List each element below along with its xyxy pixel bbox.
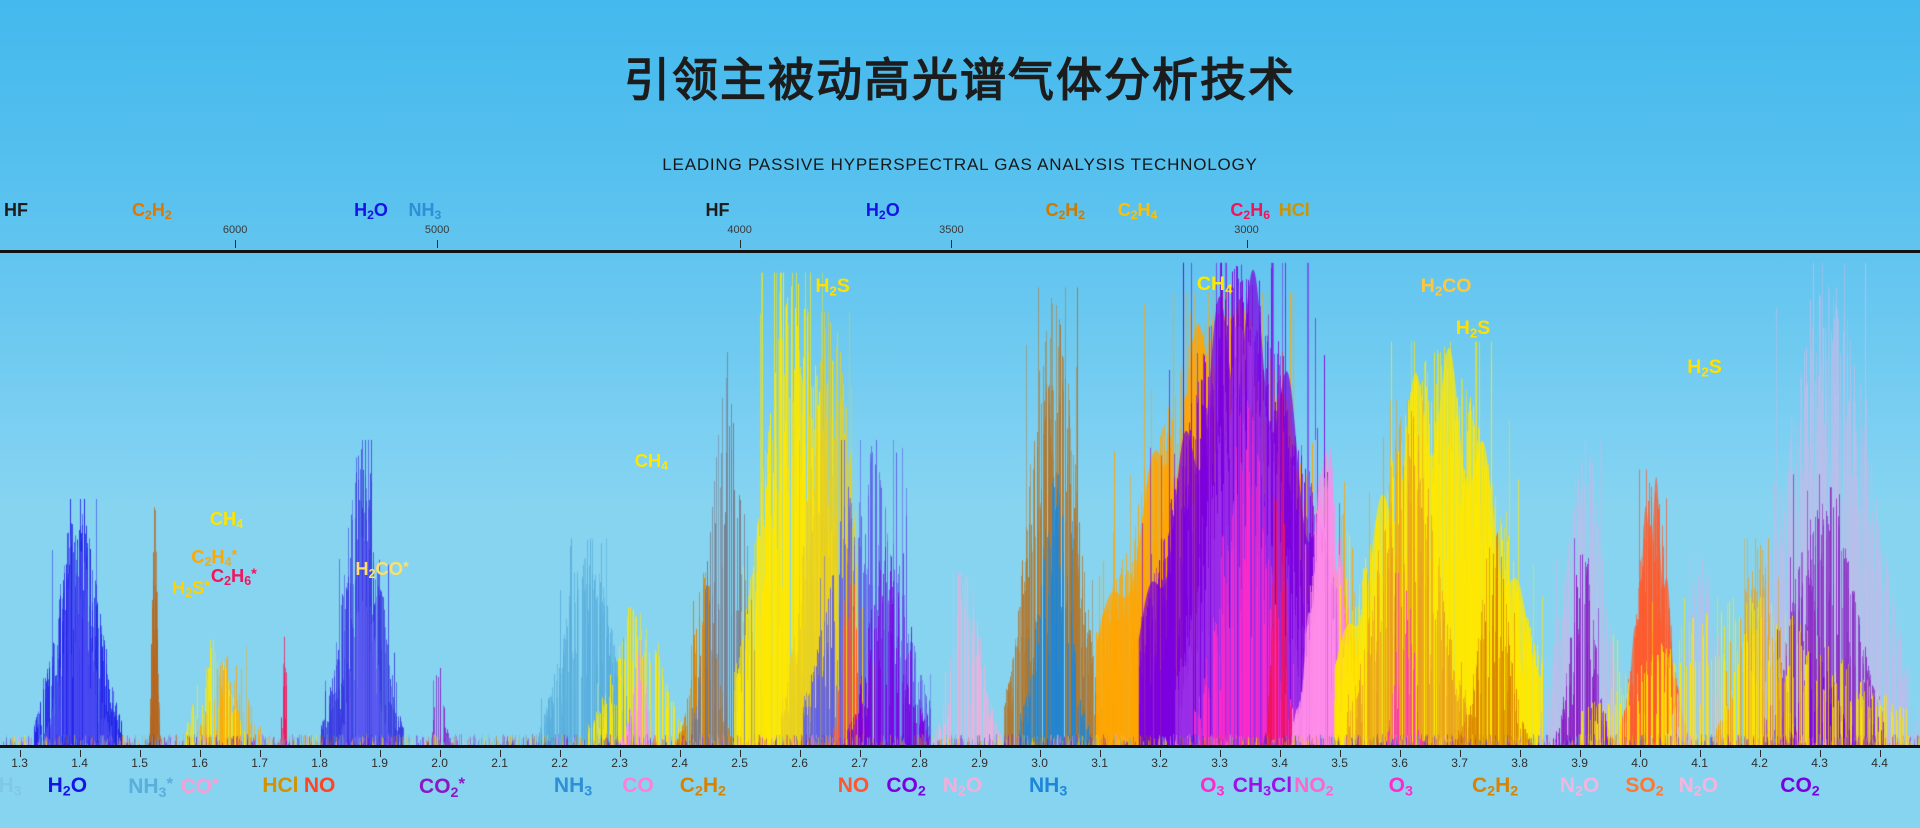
bottom-tick-label-4.4: 4.4 [1871,756,1888,770]
bottom-tick-label-3.8: 3.8 [1511,756,1528,770]
top-species-C2H2_2: C2H2 [1045,200,1085,222]
bottom-tick-label-1.6: 1.6 [191,756,208,770]
page-title: 引领主被动高光谱气体分析技术 [0,57,1920,103]
bottom-tick-label-2.7: 2.7 [851,756,868,770]
bottom-tick-label-3.9: 3.9 [1571,756,1588,770]
bottom-tick-label-2.2: 2.2 [551,756,568,770]
bottom-species-NH3: NH3 [554,774,592,800]
bottom-species-O3_2: O3 [1389,774,1413,800]
bottom-species-CO: CO [622,774,654,798]
bottom-tick-label-3.3: 3.3 [1211,756,1228,770]
bottom-species-NH3_star: NH3* [128,774,173,801]
bottom-tick-label-2.3: 2.3 [611,756,628,770]
top-species-H2O_2: H2O [866,200,900,222]
bottom-species-N2O_2: N2O [1560,774,1599,800]
bottom-tick-label-2.6: 2.6 [791,756,808,770]
top-species-H2O: H2O [354,200,388,222]
top-tick-label-6000: 6000 [223,224,247,236]
bottom-tick-label-1.5: 1.5 [131,756,148,770]
top-tick-label-3500: 3500 [939,224,963,236]
top-tick-5000 [437,240,438,248]
bottom-axis-line [0,745,1920,748]
bottom-tick-label-2.4: 2.4 [671,756,688,770]
top-tick-4000 [740,240,741,248]
top-species-C2H4: C2H4 [1118,200,1158,222]
header: 引领主被动高光谱气体分析技术 LEADING PASSIVE HYPERSPEC… [0,0,1920,200]
top-tick-label-4000: 4000 [727,224,751,236]
bottom-tick-label-3.1: 3.1 [1091,756,1108,770]
top-species-HF_2: HF [706,200,730,221]
bottom-species-C2H2: C2H2 [680,774,726,800]
bottom-species-O3: O3 [1200,774,1224,800]
bottom-species-NH3_2: NH3 [1029,774,1067,800]
bottom-tick-label-4.0: 4.0 [1631,756,1648,770]
bottom-tick-label-3.6: 3.6 [1391,756,1408,770]
bottom-tick-label-2.8: 2.8 [911,756,928,770]
bottom-species-SO2: SO2 [1625,774,1663,800]
bottom-species-N2O: N2O [943,774,982,800]
bottom-species-NH3_edge: NH3 [0,774,22,800]
bottom-tick-label-3.2: 3.2 [1151,756,1168,770]
page-subtitle: LEADING PASSIVE HYPERSPECTRAL GAS ANALYS… [0,155,1920,175]
bottom-tick-label-2.0: 2.0 [431,756,448,770]
bottom-tick-label-1.3: 1.3 [11,756,28,770]
bottom-species-CO2_2: CO2 [1780,774,1819,800]
bottom-tick-label-1.9: 1.9 [371,756,388,770]
top-tick-label-3000: 3000 [1234,224,1258,236]
bottom-tick-label-3.5: 3.5 [1331,756,1348,770]
bottom-tick-label-3.4: 3.4 [1271,756,1288,770]
top-species-HF: HF [4,200,28,221]
top-tick-6000 [235,240,236,248]
hyperspectral-poster: 引领主被动高光谱气体分析技术 LEADING PASSIVE HYPERSPEC… [0,0,1920,828]
bottom-species-CH3Cl: CH3Cl [1233,774,1292,800]
top-species-HCl: HCl [1279,200,1310,221]
bottom-tick-label-3.0: 3.0 [1031,756,1048,770]
bottom-species-labels: NH3H2ONH3*CO*HClNOCO2*NH3COC2H2NOCO2N2ON… [0,774,1920,812]
top-species-NH3: NH3 [408,200,441,222]
bottom-tick-label-2.1: 2.1 [491,756,508,770]
bottom-tick-label-1.4: 1.4 [71,756,88,770]
bottom-species-C2H2_2: C2H2 [1472,774,1518,800]
bottom-species-NO2: NO2 [1294,774,1333,800]
bottom-species-CO2: CO2 [886,774,925,800]
bottom-species-H2O: H2O [48,774,87,800]
spectrum-canvas [0,253,1920,745]
top-species-C2H2: C2H2 [132,200,172,222]
bottom-species-CO_star: CO* [181,774,219,799]
bottom-species-HCl: HCl [262,774,298,798]
top-tick-3500 [951,240,952,248]
bottom-species-N2O_3: N2O [1679,774,1718,800]
bottom-tick-label-3.7: 3.7 [1451,756,1468,770]
bottom-tick-label-1.7: 1.7 [251,756,268,770]
bottom-species-NO: NO [304,774,336,798]
bottom-species-CO2_star: CO2* [419,774,465,801]
bottom-tick-label-4.1: 4.1 [1691,756,1708,770]
top-tick-label-5000: 5000 [425,224,449,236]
bottom-tick-label-2.5: 2.5 [731,756,748,770]
bottom-tick-label-4.2: 4.2 [1751,756,1768,770]
bottom-tick-label-1.8: 1.8 [311,756,328,770]
bottom-tick-label-2.9: 2.9 [971,756,988,770]
top-species-C2H6: C2H6 [1230,200,1270,222]
bottom-axis-wavelength: 1.31.41.51.61.71.81.92.02.12.22.32.42.52… [0,750,1920,770]
bottom-species-NO_2: NO [838,774,870,798]
top-axis-wavenumber: 60005000400035003000 [0,224,1920,252]
top-tick-3000 [1247,240,1248,248]
bottom-tick-label-4.3: 4.3 [1811,756,1828,770]
spectrum-plot [0,253,1920,745]
